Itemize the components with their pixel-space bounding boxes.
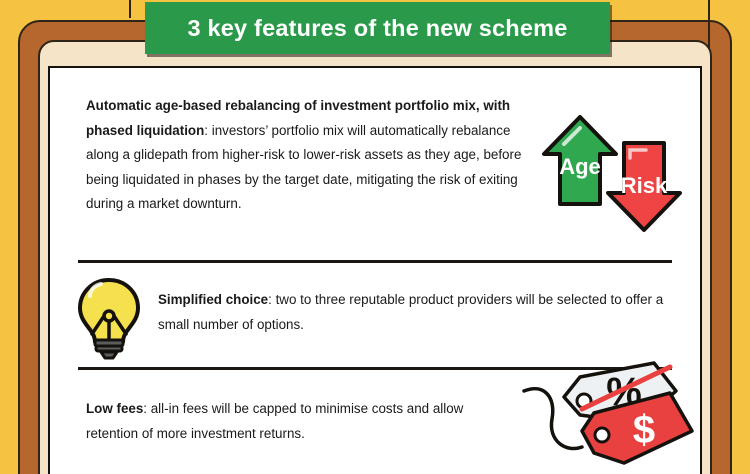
feature-simplified-choice-lead: Simplified choice [158,292,268,307]
risk-down-arrow-icon: Risk [608,143,680,230]
frame-seam-right [708,0,710,48]
feature-section-rebalancing: Automatic age-based rebalancing of inves… [50,68,700,262]
feature-section-low-fees: Low fees: all-in fees will be capped to … [50,369,700,474]
feature-low-fees-lead: Low fees [86,401,143,416]
dollar-tag-label: $ [633,408,655,452]
page-title: 3 key features of the new scheme [188,15,568,42]
feature-low-fees-text: Low fees: all-in fees will be capped to … [86,397,506,446]
feature-rebalancing-text: Automatic age-based rebalancing of inves… [86,94,536,217]
age-arrow-label: Age [559,154,601,179]
price-tags-icon: % $ [520,357,696,474]
frame-seam-left [129,0,131,18]
feature-low-fees-body: : all-in fees will be capped to minimise… [86,401,463,441]
title-banner: 3 key features of the new scheme [145,2,610,54]
age-risk-arrows-icon: Age Risk [534,82,694,242]
age-up-arrow-icon: Age [544,117,616,204]
risk-arrow-label: Risk [621,173,668,198]
content-card: Automatic age-based rebalancing of inves… [48,66,702,474]
feature-simplified-choice-text: Simplified choice: two to three reputabl… [158,288,668,337]
feature-section-simplified-choice: Simplified choice: two to three reputabl… [50,262,700,369]
lightbulb-icon [70,276,148,360]
infographic-root: Automatic age-based rebalancing of inves… [0,0,750,474]
